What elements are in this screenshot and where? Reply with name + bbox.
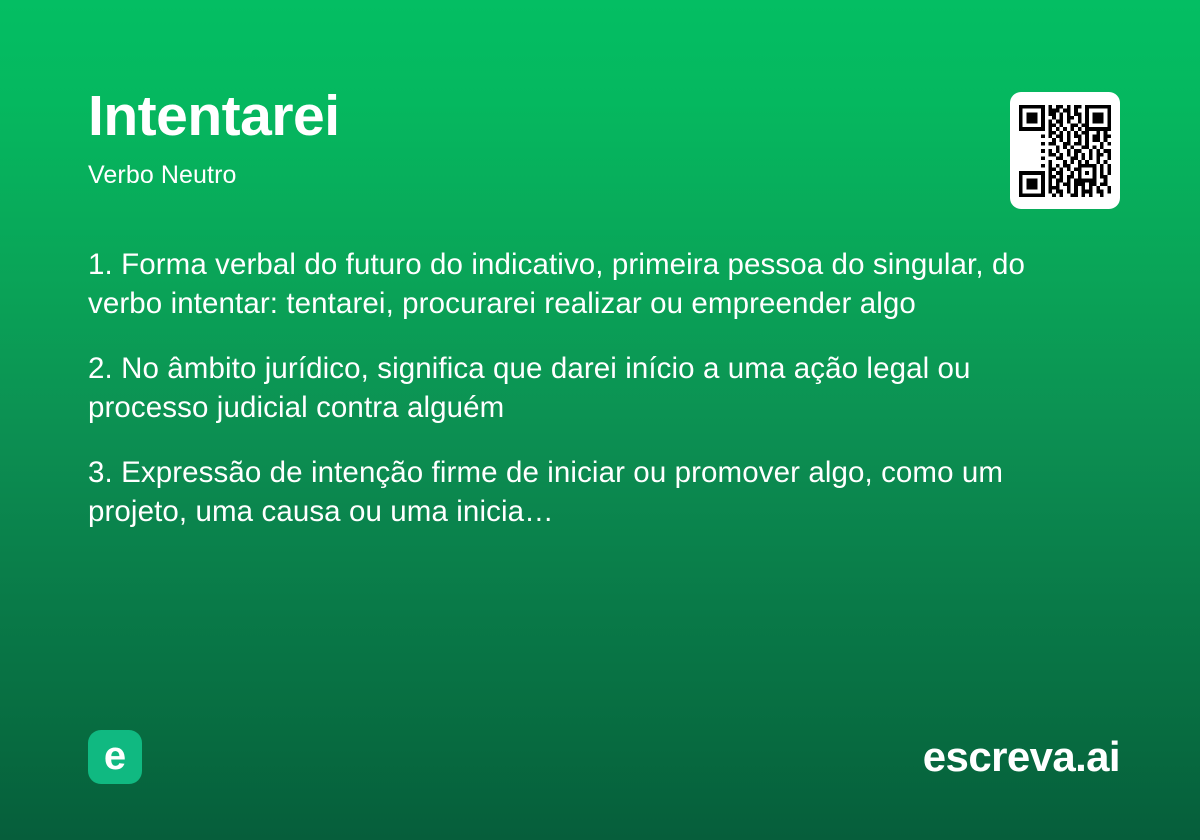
card-header: Intentarei Verbo Neutro — [88, 88, 1120, 190]
qr-code-svg — [1019, 105, 1111, 197]
qr-code-icon[interactable] — [1010, 92, 1120, 209]
definition-item: 1. Forma verbal do futuro do indicativo,… — [88, 246, 1098, 323]
word-class-label: Verbo Neutro — [88, 161, 1120, 190]
brand-wordmark: escreva.ai — [923, 736, 1120, 778]
dictionary-card: Intentarei Verbo Neutro — [0, 0, 1200, 840]
definition-item: 2. No âmbito jurídico, significa que dar… — [88, 350, 1098, 427]
escreva-logo-icon[interactable]: e — [88, 730, 142, 784]
logo-letter: e — [104, 736, 126, 776]
card-footer: e escreva.ai — [88, 730, 1120, 784]
definitions-list: 1. Forma verbal do futuro do indicativo,… — [88, 246, 1098, 531]
definition-item: 3. Expressão de intenção firme de inicia… — [88, 454, 1098, 531]
page-title: Intentarei — [88, 88, 1120, 145]
